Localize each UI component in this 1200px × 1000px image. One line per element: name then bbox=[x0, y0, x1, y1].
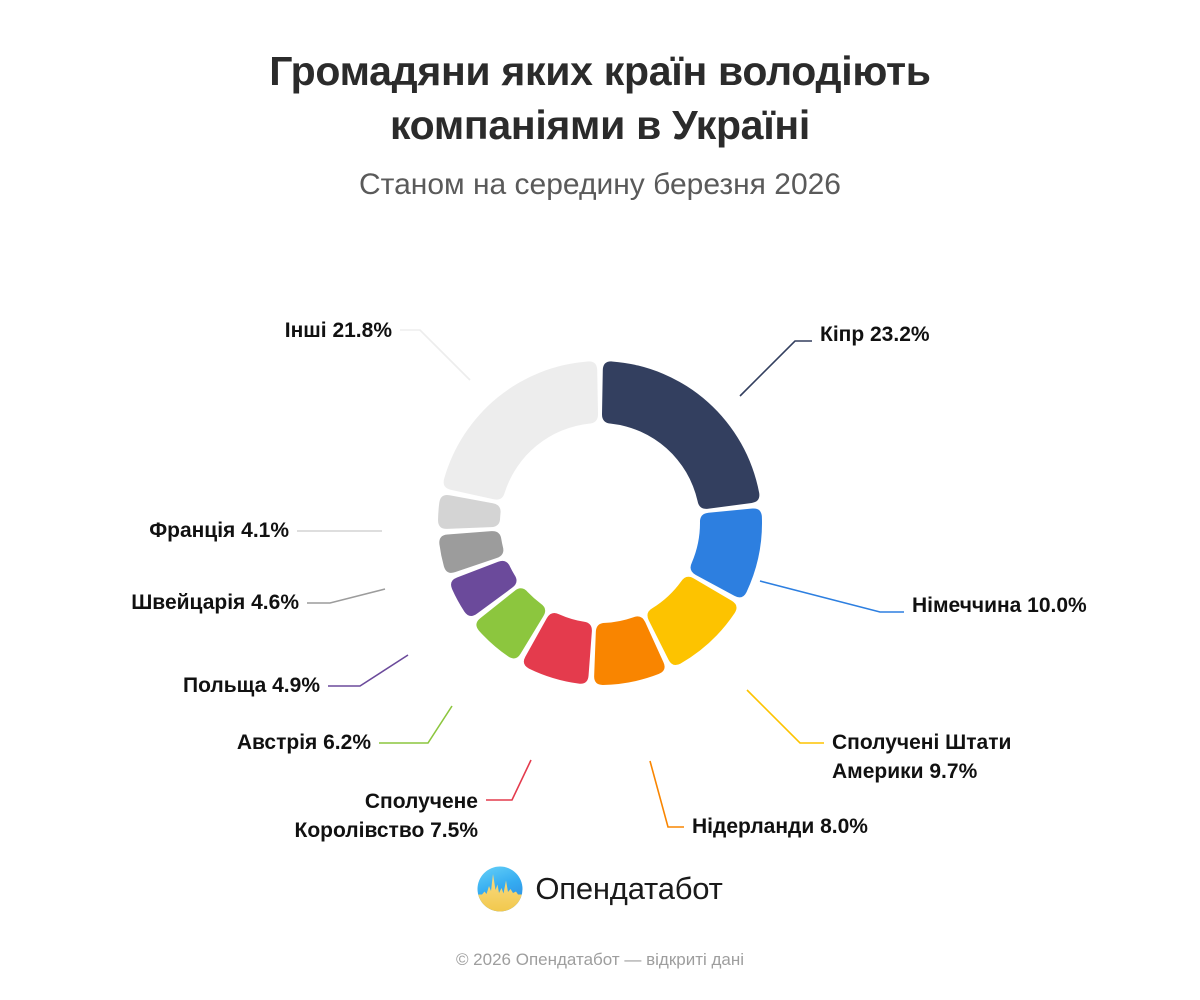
leader-line bbox=[740, 341, 812, 396]
donut-slice[interactable] bbox=[438, 495, 501, 529]
donut-slice[interactable] bbox=[691, 508, 762, 597]
leader-line bbox=[400, 330, 470, 380]
chart-header: Громадяни яких країн володіють компаніям… bbox=[0, 0, 1200, 202]
slice-label: Франція 4.1% bbox=[149, 519, 289, 542]
leader-line bbox=[328, 655, 408, 686]
opendatabot-logo-icon bbox=[477, 866, 523, 912]
chart-page: Громадяни яких країн володіють компаніям… bbox=[0, 0, 1200, 1000]
donut-slices-group bbox=[438, 361, 762, 685]
slice-label: СполученеКоролівство 7.5% bbox=[295, 790, 479, 842]
donut-slice[interactable] bbox=[451, 561, 516, 616]
donut-slice[interactable] bbox=[594, 616, 664, 685]
chart-subtitle: Станом на середину березня 2026 bbox=[0, 168, 1200, 202]
leader-line bbox=[747, 690, 824, 743]
slice-label: Нідерланди 8.0% bbox=[692, 815, 868, 838]
page-title: Громадяни яких країн володіють компаніям… bbox=[170, 44, 1030, 152]
donut-slice[interactable] bbox=[524, 613, 592, 684]
slice-label: Кіпр 23.2% bbox=[820, 323, 930, 346]
chart-title-line-2: компаніями в Україні bbox=[170, 98, 1030, 152]
slice-label: Німеччина 10.0% bbox=[912, 594, 1087, 617]
donut-slice[interactable] bbox=[476, 588, 545, 658]
brand-block: Опендатабот bbox=[0, 866, 1200, 912]
donut-slice[interactable] bbox=[439, 531, 503, 573]
slice-label: Швейцарія 4.6% bbox=[131, 591, 299, 614]
leader-line bbox=[307, 589, 385, 603]
leader-line bbox=[650, 761, 684, 827]
opendatabot-logo-svg bbox=[477, 866, 523, 912]
donut-slice[interactable] bbox=[647, 577, 736, 665]
donut-slice[interactable] bbox=[444, 361, 598, 499]
leader-lines-group bbox=[297, 330, 904, 827]
donut-slice[interactable] bbox=[602, 361, 759, 508]
slice-label: Інші 21.8% bbox=[285, 319, 393, 342]
slice-label: Польща 4.9% bbox=[183, 674, 320, 697]
leader-line bbox=[760, 581, 904, 612]
slice-label: Австрія 6.2% bbox=[237, 731, 371, 754]
chart-title-line-1: Громадяни яких країн володіють bbox=[170, 44, 1030, 98]
footer-copyright: © 2026 Опендатабот — відкриті дані bbox=[0, 950, 1200, 970]
slice-labels-group: Кіпр 23.2%Німеччина 10.0%Сполучені Штати… bbox=[131, 319, 1087, 842]
brand-name: Опендатабот bbox=[535, 871, 722, 907]
slice-label: Сполучені ШтатиАмерики 9.7% bbox=[832, 731, 1011, 783]
leader-line bbox=[379, 706, 452, 743]
leader-line bbox=[486, 760, 531, 800]
